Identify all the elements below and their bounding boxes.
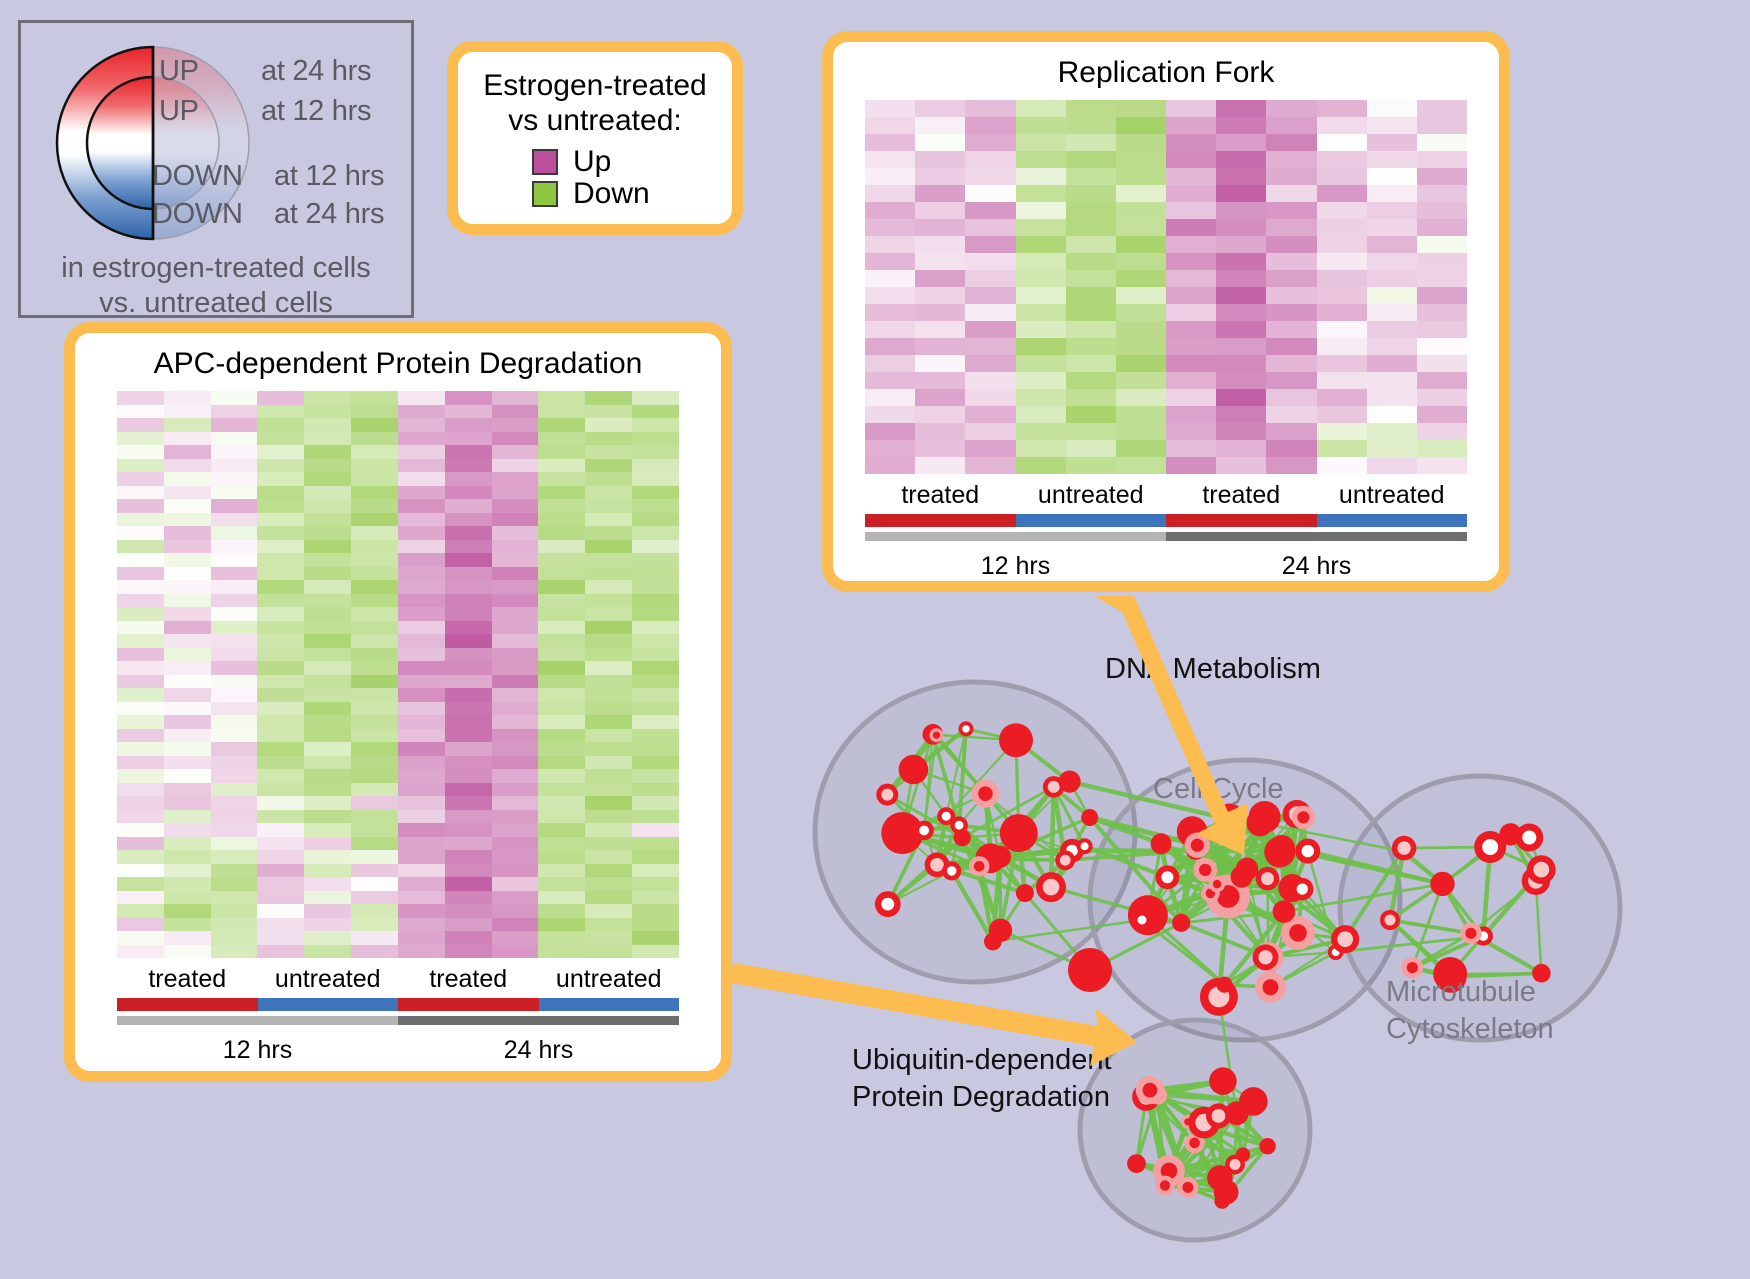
heatmap-cell xyxy=(1016,287,1066,304)
cluster-halos xyxy=(815,682,1620,1240)
heatmap-cell xyxy=(398,661,445,675)
heatmap-cell xyxy=(492,891,539,905)
network-node[interactable] xyxy=(1247,809,1274,836)
heatmap-cell xyxy=(351,540,398,554)
heatmap-cell xyxy=(304,742,351,756)
network-node[interactable] xyxy=(1016,884,1034,902)
heatmap-cell xyxy=(117,594,164,608)
network-label-dna-metabolism: DNA Metabolism xyxy=(1105,652,1321,687)
heatmap-cell xyxy=(1266,202,1316,219)
network-node[interactable] xyxy=(899,755,929,785)
network-node[interactable] xyxy=(999,723,1033,757)
heatmap-cell xyxy=(632,918,679,932)
heatmap-cell xyxy=(492,769,539,783)
apc-degradation-heatmap xyxy=(117,391,679,958)
heatmap-cell xyxy=(632,931,679,945)
heatmap-cell xyxy=(351,391,398,405)
heatmap-cell xyxy=(1417,100,1467,117)
network-node-core xyxy=(1182,1182,1193,1193)
heatmap-cell xyxy=(1016,304,1066,321)
heatmap-cell xyxy=(865,423,915,440)
heatmap-cell xyxy=(492,877,539,891)
heatmap-cell xyxy=(915,304,965,321)
network-node[interactable] xyxy=(1216,977,1232,993)
heatmap-cell xyxy=(117,432,164,446)
heatmap-cell xyxy=(257,702,304,716)
heatmap-cell xyxy=(492,526,539,540)
heatmap-cell xyxy=(1317,338,1367,355)
heatmap-cell xyxy=(351,783,398,797)
heatmap-cell xyxy=(632,877,679,891)
heatmap-cell xyxy=(445,729,492,743)
heatmap-cell xyxy=(492,904,539,918)
network-node[interactable] xyxy=(1214,1180,1239,1205)
heatmap-cell xyxy=(492,648,539,662)
heatmap-cell xyxy=(1166,185,1216,202)
heatmap-cell xyxy=(632,432,679,446)
heatmap-cell xyxy=(492,931,539,945)
heatmap-cell xyxy=(211,553,258,567)
heatmap-cell xyxy=(211,499,258,513)
heatmap-cell xyxy=(351,904,398,918)
heatmap-cell xyxy=(1216,117,1266,134)
network-node[interactable] xyxy=(1081,809,1098,826)
heatmap-cell xyxy=(351,729,398,743)
heatmap-cell xyxy=(538,891,585,905)
heatmap-cell xyxy=(1016,457,1066,474)
heatmap-cell xyxy=(164,418,211,432)
network-node-core xyxy=(1213,880,1221,888)
heatmap-cell xyxy=(398,688,445,702)
heatmap-cell xyxy=(632,715,679,729)
heatmap-cell xyxy=(257,769,304,783)
heatmap-cell xyxy=(1016,270,1066,287)
heatmap-cell xyxy=(965,355,1015,372)
heatmap-cell xyxy=(257,472,304,486)
heatmap-cell xyxy=(304,837,351,851)
heatmap-cell xyxy=(445,904,492,918)
heatmap-cell xyxy=(585,756,632,770)
heatmap-cell xyxy=(211,918,258,932)
heatmap-cell xyxy=(257,918,304,932)
heatmap-cell xyxy=(398,742,445,756)
heatmap-cell xyxy=(1066,304,1116,321)
network-node[interactable] xyxy=(1430,872,1454,896)
heatmap-cell xyxy=(965,236,1015,253)
network-node-core xyxy=(1222,811,1238,827)
network-node[interactable] xyxy=(1059,771,1081,793)
heatmap-cell xyxy=(915,270,965,287)
heatmap-cell xyxy=(865,236,915,253)
heatmap-cell xyxy=(445,945,492,959)
heatmap-cell xyxy=(398,486,445,500)
heatmap-cell xyxy=(1367,372,1417,389)
heatmap-cell xyxy=(164,486,211,500)
heatmap-cell xyxy=(117,918,164,932)
heatmap-cell xyxy=(1216,219,1266,236)
network-node-core xyxy=(919,826,929,836)
heatmap-cell xyxy=(632,472,679,486)
heatmap-cell xyxy=(257,459,304,473)
axis-group-label: untreated xyxy=(1317,478,1468,514)
heatmap-cell xyxy=(865,117,915,134)
heatmap-cell xyxy=(1116,287,1166,304)
heatmap-cell xyxy=(632,742,679,756)
heatmap-cell xyxy=(351,688,398,702)
heatmap-cell xyxy=(538,877,585,891)
network-node[interactable] xyxy=(1239,1087,1268,1116)
heatmap-cell xyxy=(1317,236,1367,253)
heatmap-cell xyxy=(117,405,164,419)
heatmap-cell xyxy=(585,661,632,675)
heatmap-cell xyxy=(211,580,258,594)
heatmap-cell xyxy=(585,904,632,918)
heatmap-cell xyxy=(1317,270,1367,287)
axis-group-bar xyxy=(117,998,258,1011)
heatmap-cell xyxy=(211,607,258,621)
heatmap-cell xyxy=(965,202,1015,219)
heatmap-cell xyxy=(1016,236,1066,253)
network-node[interactable] xyxy=(1273,900,1296,923)
heatmap-cell xyxy=(915,389,965,406)
heatmap-cell xyxy=(1317,151,1367,168)
heatmap-cell xyxy=(1417,168,1467,185)
heatmap-cell xyxy=(164,621,211,635)
heatmap-cell xyxy=(1016,100,1066,117)
heatmap-cell xyxy=(1417,236,1467,253)
heatmap-cell xyxy=(257,621,304,635)
heatmap-cell xyxy=(445,445,492,459)
heatmap-cell xyxy=(211,567,258,581)
heatmap-cell xyxy=(1417,287,1467,304)
heatmap-cell xyxy=(164,931,211,945)
heatmap-cell xyxy=(1016,117,1066,134)
heatmap-cell xyxy=(164,648,211,662)
axis-group-bars xyxy=(117,998,679,1011)
heatmap-cell xyxy=(585,634,632,648)
axis-group-bar xyxy=(1016,514,1167,527)
heatmap-cell xyxy=(632,675,679,689)
heatmap-cell xyxy=(1166,338,1216,355)
heatmap-cell xyxy=(1266,134,1316,151)
heatmap-cell xyxy=(538,823,585,837)
heatmap-cell xyxy=(398,918,445,932)
heatmap-cell xyxy=(1266,253,1316,270)
heatmap-cell xyxy=(1266,440,1316,457)
heatmap-cell xyxy=(398,607,445,621)
heatmap-cell xyxy=(351,634,398,648)
heatmap-cell xyxy=(1016,440,1066,457)
heatmap-cell xyxy=(211,715,258,729)
network-node[interactable] xyxy=(1231,866,1253,888)
heatmap-cell xyxy=(1016,406,1066,423)
heatmap-cell xyxy=(632,850,679,864)
heatmap-cell xyxy=(585,688,632,702)
network-node[interactable] xyxy=(1269,835,1296,862)
heatmap-cell xyxy=(351,796,398,810)
wheel-label-up-12: UP xyxy=(159,95,199,128)
heatmap-cell xyxy=(351,769,398,783)
heatmap-cell xyxy=(304,486,351,500)
heatmap-cell xyxy=(1066,134,1116,151)
heatmap-cell xyxy=(1216,270,1266,287)
network-node[interactable] xyxy=(1172,914,1190,932)
heatmap-cell xyxy=(445,756,492,770)
heatmap-cell xyxy=(492,391,539,405)
axis-time-label: 12 hrs xyxy=(117,1030,398,1065)
heatmap-cell xyxy=(1367,304,1417,321)
wheel-label-up-24: UP xyxy=(159,55,199,88)
heatmap-cell xyxy=(351,742,398,756)
heatmap-cell xyxy=(164,472,211,486)
heatmap-cell xyxy=(398,931,445,945)
network-node-core xyxy=(978,786,993,801)
heatmap-cell xyxy=(304,864,351,878)
heatmap-cell xyxy=(304,769,351,783)
heatmap-cell xyxy=(1266,321,1316,338)
heatmap-cell xyxy=(865,338,915,355)
heatmap-cell xyxy=(1116,185,1166,202)
heatmap-cell xyxy=(445,877,492,891)
heatmap-cell xyxy=(1266,168,1316,185)
heatmap-cell xyxy=(865,253,915,270)
heatmap-cell xyxy=(965,423,1015,440)
heatmap-cell xyxy=(632,864,679,878)
heatmap-cell xyxy=(585,513,632,527)
heatmap-cell xyxy=(492,864,539,878)
heatmap-cell xyxy=(445,418,492,432)
heatmap-cell xyxy=(117,877,164,891)
heatmap-cell xyxy=(1417,151,1467,168)
network-node[interactable] xyxy=(1068,948,1112,992)
heatmap-cell xyxy=(398,702,445,716)
figure-root: UP at 24 hrs UP at 12 hrs DOWN at 12 hrs… xyxy=(0,0,1750,1279)
heatmap-cell xyxy=(1066,117,1116,134)
heatmap-cell xyxy=(304,607,351,621)
heatmap-cell xyxy=(585,594,632,608)
heatmap-cell xyxy=(445,607,492,621)
key-label-up: Up xyxy=(573,147,611,177)
heatmap-cell xyxy=(164,769,211,783)
heatmap-cell xyxy=(1266,389,1316,406)
heatmap-cell xyxy=(1066,151,1116,168)
heatmap-cell xyxy=(965,304,1015,321)
network-node-core xyxy=(1482,839,1498,855)
heatmap-cell xyxy=(1116,457,1166,474)
pathway-network-graph: DNA Metabolism Cell Cycle Microtubule Cy… xyxy=(790,620,1740,1279)
heatmap-cell xyxy=(632,607,679,621)
heatmap-cell xyxy=(445,918,492,932)
heatmap-cell xyxy=(1216,338,1266,355)
heatmap-cell xyxy=(351,702,398,716)
heatmap-cell xyxy=(304,688,351,702)
axis-group-label: treated xyxy=(398,962,539,998)
heatmap-cell xyxy=(538,931,585,945)
heatmap-cell xyxy=(1266,372,1316,389)
heatmap-cell xyxy=(1016,321,1066,338)
heatmap-cell xyxy=(538,675,585,689)
heatmap-cell xyxy=(351,418,398,432)
heatmap-cell xyxy=(585,850,632,864)
heatmap-cell xyxy=(164,796,211,810)
heatmap-cell xyxy=(351,918,398,932)
network-node[interactable] xyxy=(1209,1067,1237,1095)
down-swatch-icon xyxy=(532,181,558,207)
heatmap-cell xyxy=(492,945,539,959)
heatmap-cell xyxy=(304,634,351,648)
panel-replication-fork: Replication Fork treateduntreatedtreated… xyxy=(822,31,1510,592)
heatmap-cell xyxy=(445,823,492,837)
heatmap-cell xyxy=(164,877,211,891)
network-node-core xyxy=(1230,1159,1241,1170)
heatmap-cell xyxy=(965,338,1015,355)
heatmap-cell xyxy=(304,459,351,473)
heatmap-cell xyxy=(117,810,164,824)
heatmap-cell xyxy=(211,634,258,648)
heatmap-cell xyxy=(164,459,211,473)
heatmap-cell xyxy=(915,202,965,219)
heatmap-cell xyxy=(164,432,211,446)
heatmap-cell xyxy=(445,931,492,945)
heatmap-cell xyxy=(538,796,585,810)
axis-group-label: treated xyxy=(117,962,258,998)
network-node-core xyxy=(1385,915,1396,926)
heatmap-cell xyxy=(492,459,539,473)
heatmap-cell xyxy=(538,499,585,513)
heatmap-cell xyxy=(164,607,211,621)
heatmap-cell xyxy=(398,391,445,405)
heatmap-cell xyxy=(492,837,539,851)
heatmap-cell xyxy=(1166,321,1216,338)
heatmap-cell xyxy=(915,151,965,168)
heatmap-cell xyxy=(1367,423,1417,440)
heatmap-cell xyxy=(585,796,632,810)
heatmap-cell xyxy=(492,580,539,594)
heatmap-cell xyxy=(492,756,539,770)
heatmap-cell xyxy=(1116,304,1166,321)
heatmap-cell xyxy=(585,486,632,500)
heatmap-cell xyxy=(257,418,304,432)
heatmap-cell xyxy=(445,526,492,540)
heatmap-cell xyxy=(1166,389,1216,406)
heatmap-cell xyxy=(257,391,304,405)
heatmap-cell xyxy=(117,459,164,473)
network-node[interactable] xyxy=(1127,1154,1146,1173)
heatmap-cell xyxy=(398,837,445,851)
heatmap-cell xyxy=(1417,219,1467,236)
heatmap-cell xyxy=(1216,202,1266,219)
heatmap-cell xyxy=(585,445,632,459)
key-title-line2: vs untreated: xyxy=(458,104,732,139)
heatmap-cell xyxy=(538,513,585,527)
heatmap-cell xyxy=(538,594,585,608)
axis-group-label: treated xyxy=(1166,478,1317,514)
heatmap-cell xyxy=(1216,134,1266,151)
heatmap-cell xyxy=(585,823,632,837)
heatmap-cell xyxy=(304,877,351,891)
heatmap-cell xyxy=(585,621,632,635)
network-node[interactable] xyxy=(1499,823,1521,845)
network-node[interactable] xyxy=(1000,814,1038,852)
heatmap-cell xyxy=(211,931,258,945)
heatmap-cell xyxy=(1417,423,1467,440)
heatmap-cell xyxy=(304,904,351,918)
heatmap-cell xyxy=(164,405,211,419)
heatmap-cell xyxy=(164,567,211,581)
heatmap-cell xyxy=(257,796,304,810)
heatmap-cell xyxy=(585,553,632,567)
heatmap-cell xyxy=(257,526,304,540)
heatmap-cell xyxy=(1016,151,1066,168)
network-node-core xyxy=(942,812,951,821)
heatmap-cell xyxy=(1116,440,1166,457)
heatmap-cell xyxy=(445,769,492,783)
heatmap-cell xyxy=(1066,338,1116,355)
heatmap-cell xyxy=(445,405,492,419)
color-wheel-legend: UP at 24 hrs UP at 12 hrs DOWN at 12 hrs… xyxy=(18,20,414,318)
heatmap-cell xyxy=(1417,355,1467,372)
heatmap-cell xyxy=(351,459,398,473)
heatmap-cell xyxy=(304,553,351,567)
heatmap-cell xyxy=(211,945,258,959)
heatmap-cell xyxy=(632,459,679,473)
heatmap-cell xyxy=(1116,236,1166,253)
heatmap-cell xyxy=(398,783,445,797)
heatmap-cell xyxy=(257,405,304,419)
heatmap-cell xyxy=(965,389,1015,406)
heatmap-cell xyxy=(211,432,258,446)
heatmap-cell xyxy=(117,391,164,405)
axis-time-label: 24 hrs xyxy=(398,1030,679,1065)
heatmap-cell xyxy=(211,850,258,864)
heatmap-cell xyxy=(211,769,258,783)
heatmap-cell xyxy=(304,526,351,540)
heatmap-cell xyxy=(1216,100,1266,117)
network-node-core xyxy=(1199,864,1211,876)
network-node-core xyxy=(1043,879,1060,896)
heatmap-cell xyxy=(445,621,492,635)
heatmap-cell xyxy=(632,553,679,567)
heatmap-cell xyxy=(257,823,304,837)
heatmap-cell xyxy=(585,472,632,486)
network-node[interactable] xyxy=(989,919,1012,942)
heatmap-cell xyxy=(351,567,398,581)
heatmap-cell xyxy=(538,837,585,851)
heatmap-cell xyxy=(117,823,164,837)
heatmap-cell xyxy=(865,134,915,151)
network-node[interactable] xyxy=(1151,833,1172,854)
heatmap-cell xyxy=(492,634,539,648)
network-node-core xyxy=(1258,950,1272,964)
apc-degradation-axis: treateduntreatedtreateduntreated 12 hrs2… xyxy=(117,962,679,1065)
axis-time-label: 24 hrs xyxy=(1166,546,1467,581)
heatmap-cell xyxy=(257,715,304,729)
heatmap-cell xyxy=(538,756,585,770)
heatmap-cell xyxy=(865,406,915,423)
network-label-microtubule: Microtubule xyxy=(1386,975,1536,1010)
heatmap-cell xyxy=(304,648,351,662)
heatmap-cell xyxy=(865,185,915,202)
heatmap-cell xyxy=(585,405,632,419)
network-node[interactable] xyxy=(1259,1138,1275,1154)
heatmap-cell xyxy=(492,715,539,729)
heatmap-cell xyxy=(865,457,915,474)
heatmap-cell xyxy=(1166,440,1216,457)
heatmap-cell xyxy=(398,891,445,905)
heatmap-cell xyxy=(632,823,679,837)
heatmap-cell xyxy=(304,445,351,459)
heatmap-cell xyxy=(445,891,492,905)
